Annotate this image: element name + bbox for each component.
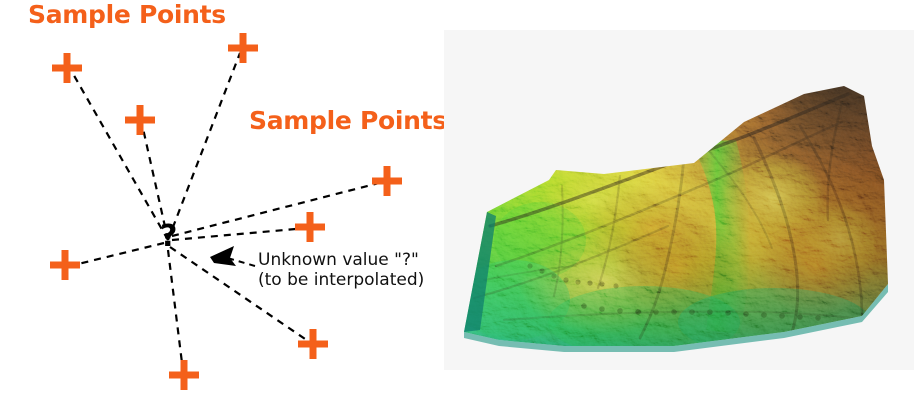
sample-point-markers (50, 33, 402, 390)
dem-surface (444, 30, 914, 370)
sample-point-marker (372, 166, 402, 196)
dem-panel (444, 30, 914, 370)
connector-lines (70, 53, 383, 371)
sketch-canvas (0, 0, 444, 400)
callout-arrow-icon (210, 246, 236, 266)
sample-point-marker (169, 360, 199, 390)
sample-points-label-right: Sample Points (249, 108, 447, 133)
sample-point-marker (298, 329, 328, 359)
dem-body (444, 30, 914, 370)
connector-to-left (70, 243, 164, 266)
connector-to-right-far (172, 182, 383, 236)
sample-point-marker (228, 33, 258, 63)
figure-root: Sample Points Sample Points ? Unknown va… (0, 0, 920, 400)
sample-point-marker (125, 105, 155, 135)
connector-to-bottom (168, 250, 183, 371)
connector-to-upper-left (72, 72, 168, 240)
sample-points-label-top: Sample Points (28, 2, 226, 27)
callout-text-line-1: Unknown value "?" (258, 250, 419, 270)
unknown-value-marker: ? (160, 222, 177, 252)
sample-point-marker (52, 53, 82, 83)
callout-text-line-2: (to be interpolated) (258, 270, 424, 290)
sample-point-marker (295, 212, 325, 242)
sample-point-marker (50, 250, 80, 280)
connector-to-right-near (172, 228, 307, 240)
interpolation-sketch-panel: Sample Points Sample Points ? Unknown va… (0, 0, 444, 400)
connector-to-upper-right (168, 53, 240, 240)
